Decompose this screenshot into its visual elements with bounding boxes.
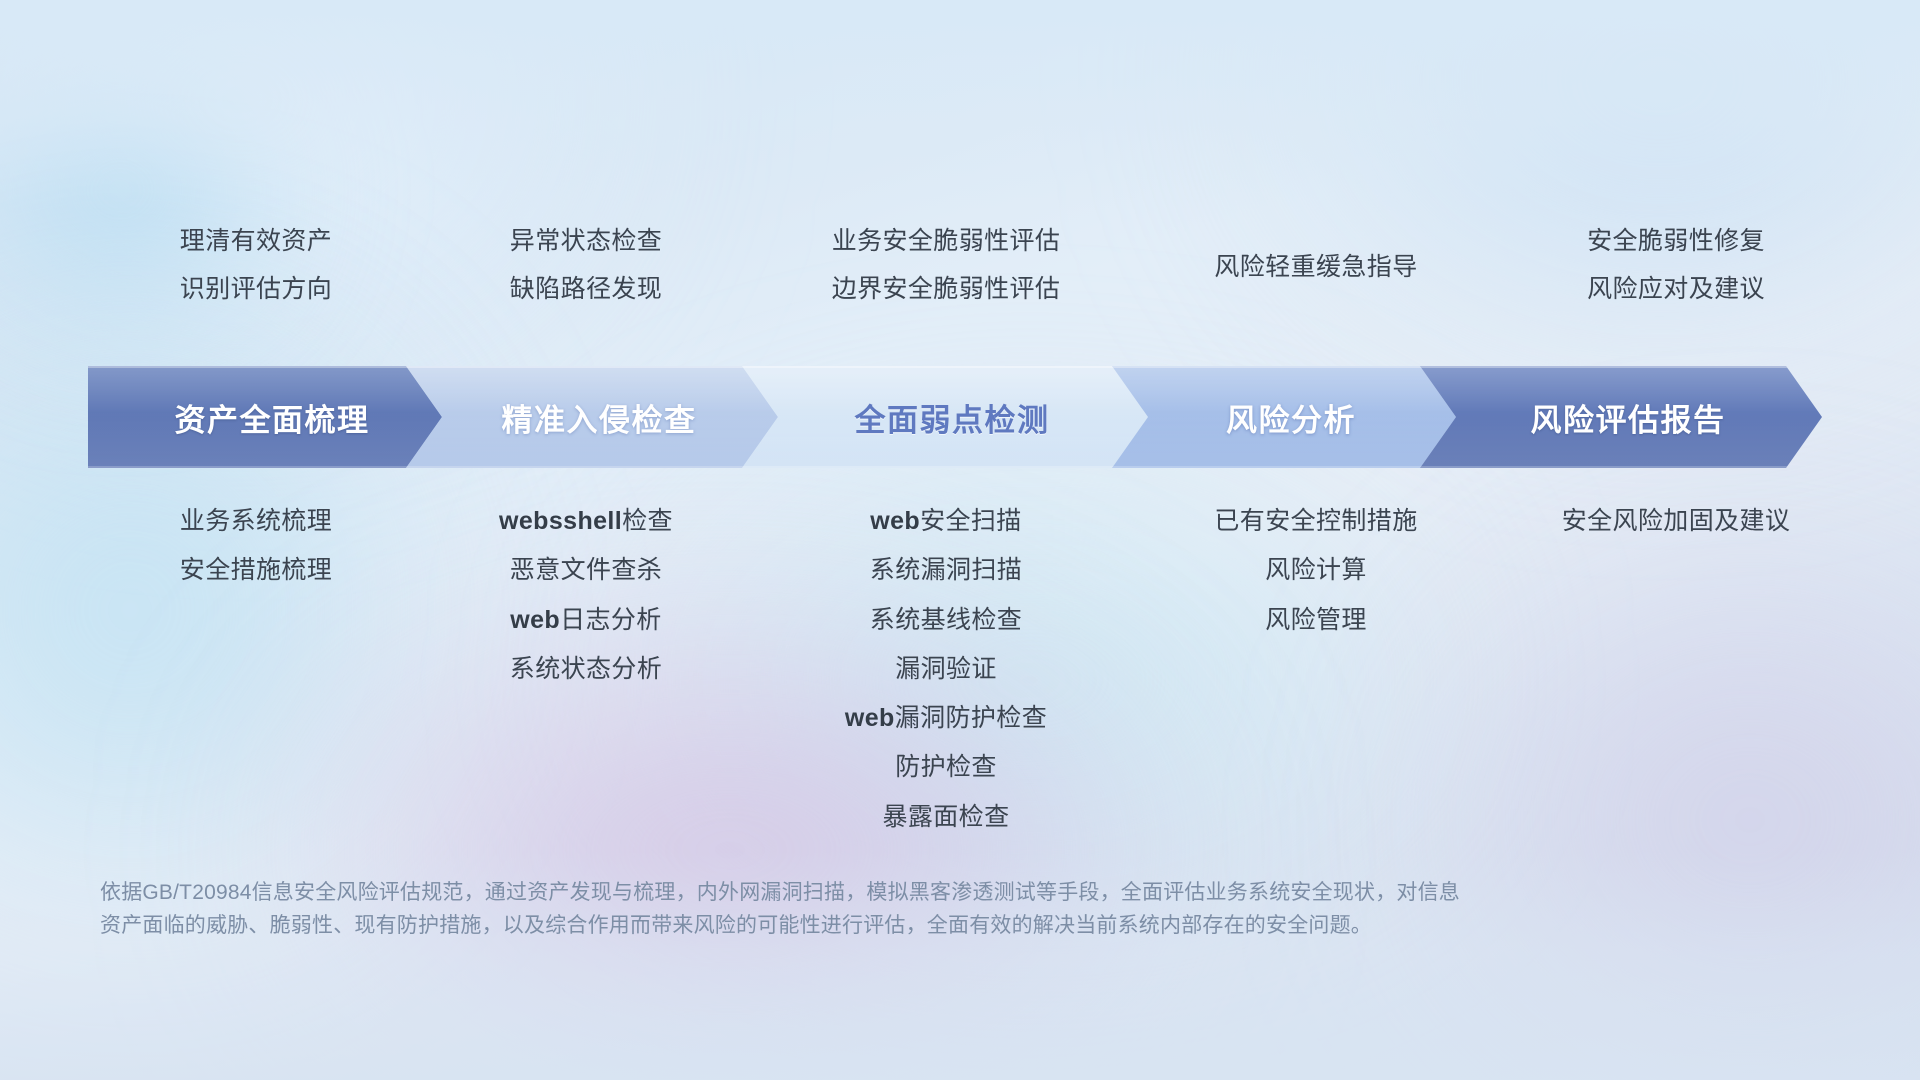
- chevron-edge-shadow: [1112, 466, 1456, 468]
- chevron-edge-highlight: [88, 366, 442, 368]
- bottom-item: 风险计算: [1265, 557, 1367, 583]
- bottom-item: 系统漏洞扫描: [870, 557, 1022, 583]
- chevron-edge-shadow: [406, 466, 778, 468]
- top-column-4: 风险轻重缓急指导: [1136, 228, 1496, 303]
- bottom-item: 业务系统梳理: [180, 508, 332, 534]
- bottom-item: websshell检查: [499, 508, 673, 534]
- top-item: 边界安全脆弱性评估: [832, 276, 1061, 302]
- stage-chevron-asset-inventory[interactable]: 资产全面梳理: [88, 366, 442, 468]
- chevron-edge-shadow: [1420, 466, 1822, 468]
- top-item: 安全脆弱性修复: [1587, 228, 1765, 254]
- bottom-item: 已有安全控制措施: [1214, 508, 1417, 534]
- top-item: 业务安全脆弱性评估: [832, 228, 1061, 254]
- chevron-edge-shadow: [742, 466, 1148, 468]
- bottom-column-4: 已有安全控制措施 风险计算 风险管理: [1136, 508, 1496, 633]
- stage-label: 风险评估报告: [1517, 395, 1726, 440]
- footer-line: 资产面临的威胁、脆弱性、现有防护措施，以及综合作用而带来风险的可能性进行评估，全…: [100, 909, 1630, 942]
- bottom-column-1: 业务系统梳理 安全措施梳理: [96, 508, 416, 584]
- bottom-item: web安全扫描: [870, 508, 1021, 534]
- top-item: 异常状态检查: [510, 228, 662, 254]
- bottom-item: 系统基线检查: [870, 607, 1022, 633]
- footer-line: 依据GB/T20984信息安全风险评估规范，通过资产发现与梳理，内外网漏洞扫描，…: [100, 876, 1630, 909]
- stage-label: 全面弱点检测: [841, 395, 1050, 440]
- stage-label: 精准入侵检查: [488, 395, 697, 440]
- process-diagram: 理清有效资产 识别评估方向 异常状态检查 缺陷路径发现 业务安全脆弱性评估 边界…: [0, 0, 1920, 1080]
- chevron-edge-shadow: [88, 466, 442, 468]
- bottom-column-5: 安全风险加固及建议: [1496, 508, 1856, 534]
- bottom-item: 安全风险加固及建议: [1562, 508, 1791, 534]
- top-item: 风险轻重缓急指导: [1214, 254, 1417, 280]
- bottom-item: 恶意文件查杀: [510, 557, 662, 583]
- bottom-item: 暴露面检查: [882, 804, 1009, 830]
- stage-chevron-banner: 资产全面梳理 精准入侵检查 全面弱点检测 风险分析 风险评估报告: [88, 366, 1858, 468]
- bottom-item: 漏洞验证: [895, 656, 997, 682]
- chevron-edge-highlight: [406, 366, 778, 368]
- bottom-column-3: web安全扫描 系统漏洞扫描 系统基线检查 漏洞验证 web漏洞防护检查 防护检…: [756, 508, 1136, 830]
- top-column-3: 业务安全脆弱性评估 边界安全脆弱性评估: [756, 228, 1136, 303]
- bottom-item: 系统状态分析: [510, 656, 662, 682]
- top-column-1: 理清有效资产 识别评估方向: [96, 228, 416, 303]
- chevron-edge-highlight: [742, 366, 1148, 368]
- stage-chevron-weakness-detection[interactable]: 全面弱点检测: [742, 366, 1148, 468]
- stage-chevron-risk-report[interactable]: 风险评估报告: [1420, 366, 1822, 468]
- stage-chevron-risk-analysis[interactable]: 风险分析: [1112, 366, 1456, 468]
- bottom-item: web漏洞防护检查: [845, 705, 1047, 731]
- bottom-item: 防护检查: [895, 754, 997, 780]
- top-label-rows: 理清有效资产 识别评估方向 异常状态检查 缺陷路径发现 业务安全脆弱性评估 边界…: [96, 228, 1856, 303]
- footer-description: 依据GB/T20984信息安全风险评估规范，通过资产发现与梳理，内外网漏洞扫描，…: [100, 876, 1630, 942]
- top-item: 识别评估方向: [180, 276, 332, 302]
- chevron-edge-highlight: [1420, 366, 1822, 368]
- stage-label: 资产全面梳理: [161, 395, 370, 440]
- bottom-label-rows: 业务系统梳理 安全措施梳理 websshell检查 恶意文件查杀 web日志分析…: [96, 508, 1856, 830]
- top-item: 理清有效资产: [180, 228, 332, 254]
- top-column-5: 安全脆弱性修复 风险应对及建议: [1496, 228, 1856, 303]
- chevron-edge-highlight: [1112, 366, 1456, 368]
- bottom-item: 安全措施梳理: [180, 557, 332, 583]
- bottom-item: web日志分析: [510, 607, 661, 633]
- bottom-column-2: websshell检查 恶意文件查杀 web日志分析 系统状态分析: [416, 508, 756, 682]
- stage-label: 风险分析: [1212, 395, 1356, 440]
- bottom-item: 风险管理: [1265, 607, 1367, 633]
- top-item: 风险应对及建议: [1587, 276, 1765, 302]
- stage-chevron-intrusion-check[interactable]: 精准入侵检查: [406, 366, 778, 468]
- top-item: 缺陷路径发现: [510, 276, 662, 302]
- top-column-2: 异常状态检查 缺陷路径发现: [416, 228, 756, 303]
